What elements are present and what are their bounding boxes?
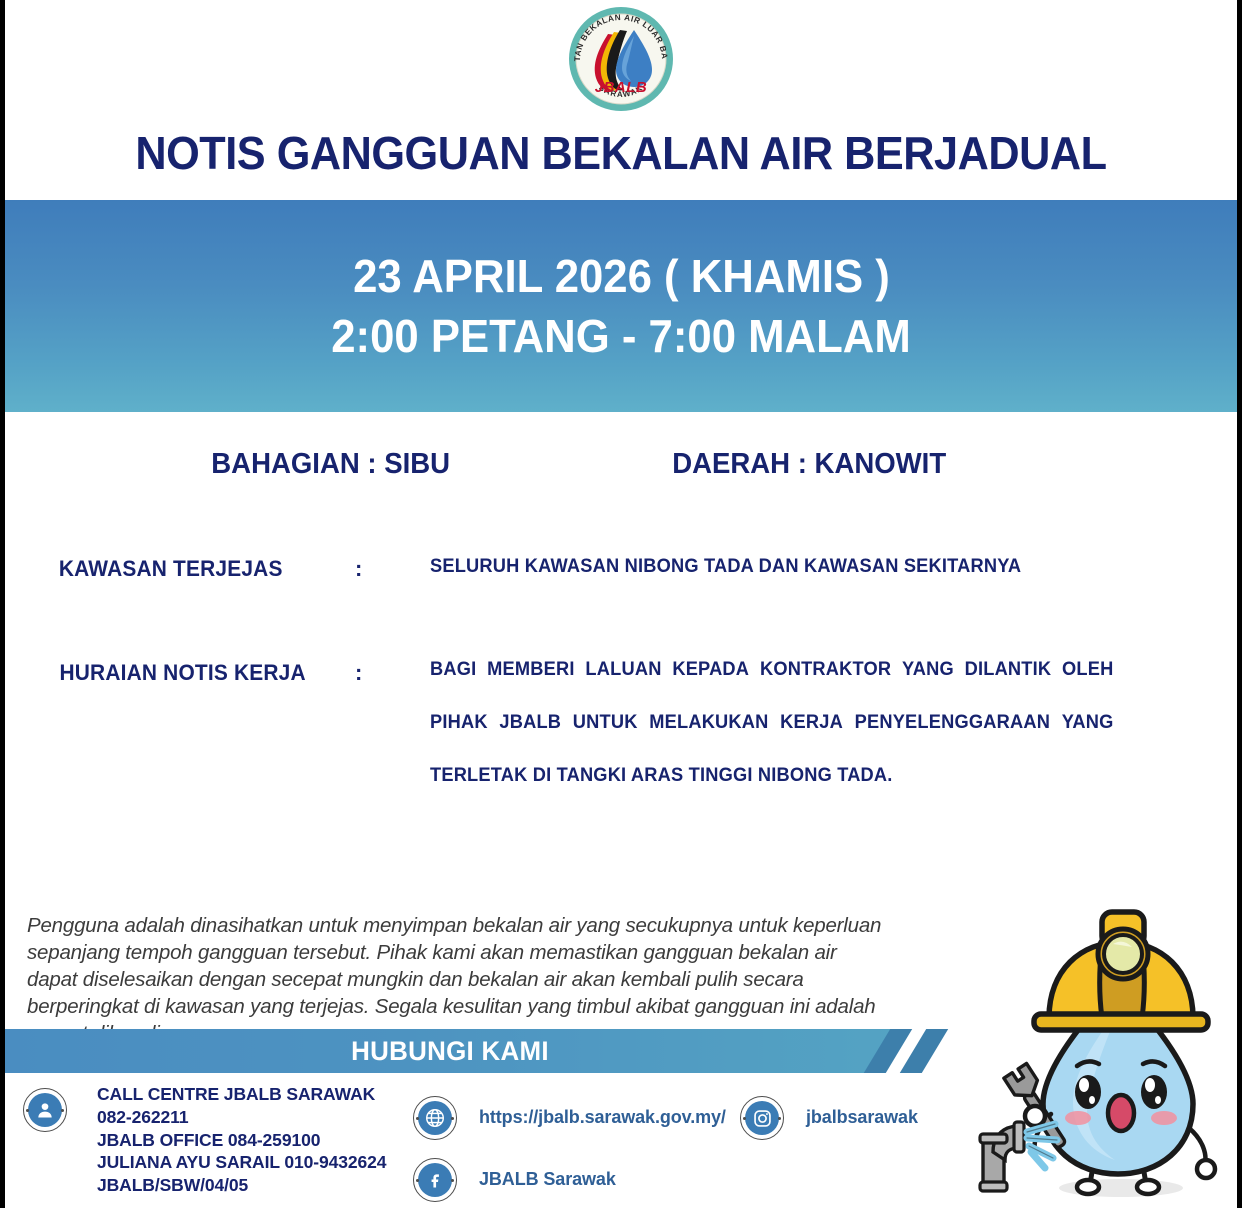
desc-word: LALUAN	[585, 660, 661, 679]
work-description-colon: :	[355, 660, 362, 686]
desc-word: MEMBERI	[487, 660, 574, 679]
contact-footer: CALL CENTRE JBALB SARAWAK 082-262211 JBA…	[5, 1078, 1005, 1208]
facebook-icon-inner	[418, 1163, 452, 1197]
page-title: NOTIS GANGGUAN BEKALAN AIR BERJADUAL	[42, 126, 1200, 180]
person-icon	[23, 1088, 67, 1132]
logo-container: JABATAN BEKALAN AIR LUAR BANDAR SARAWAK …	[5, 4, 1237, 114]
call-centre-text: CALL CENTRE JBALB SARAWAK 082-262211 JBA…	[97, 1083, 386, 1197]
work-description-value: BAGIMEMBERILALUANKEPADAKONTRAKTORYANGDIL…	[430, 660, 1114, 819]
affected-area-label: KAWASAN TERJEJAS	[59, 556, 283, 582]
contact-banner-title: HUBUNGI KAMI	[23, 1029, 877, 1073]
affected-area-colon: :	[355, 556, 362, 582]
facebook-icon[interactable]	[413, 1158, 457, 1202]
water-droplet-mascot	[971, 896, 1242, 1208]
desc-word: DILANTIK	[965, 660, 1052, 679]
desc-word: BAGI	[430, 660, 476, 679]
svg-text:JBALB: JBALB	[595, 79, 648, 96]
division-label: BAHAGIAN : SIBU	[211, 448, 450, 481]
instagram-label[interactable]: jbalbsarawak	[806, 1107, 918, 1128]
globe-icon[interactable]	[413, 1096, 457, 1140]
desc-word: OLEH	[1062, 660, 1113, 679]
call-line: JULIANA AYU SARAIL 010-9432624	[97, 1151, 386, 1174]
desc-word: KEPADA	[672, 660, 749, 679]
call-line: 082-262211	[97, 1106, 386, 1129]
desc-line-2: PIHAKJBALBUNTUKMELAKUKANKERJAPENYELENGGA…	[430, 713, 1114, 732]
desc-word: KERJA	[780, 713, 843, 732]
call-line: JBALB/SBW/04/05	[97, 1174, 386, 1197]
desc-word: YANG	[1062, 713, 1114, 732]
globe-icon-inner	[418, 1101, 452, 1135]
instagram-icon[interactable]	[740, 1096, 784, 1140]
desc-word: PENYELENGGARAAN	[855, 713, 1050, 732]
work-description-label: HURAIAN NOTIS KERJA	[59, 660, 305, 686]
district-label: DAERAH : KANOWIT	[672, 448, 946, 481]
advisory-paragraph: Pengguna adalah dinasihatkan untuk menyi…	[27, 912, 889, 1047]
date-time-banner: 23 APRIL 2026 ( KHAMIS ) 2:00 PETANG - 7…	[5, 200, 1237, 412]
affected-area-value: SELURUH KAWASAN NIBONG TADA DAN KAWASAN …	[430, 556, 1114, 578]
desc-word: YANG	[902, 660, 954, 679]
desc-word: JBALB	[499, 713, 561, 732]
facebook-label[interactable]: JBALB Sarawak	[479, 1169, 616, 1190]
contact-banner: HUBUNGI KAMI	[5, 1029, 953, 1073]
water-disruption-notice-poster: JABATAN BEKALAN AIR LUAR BANDAR SARAWAK …	[0, 0, 1242, 1208]
website-label[interactable]: https://jbalb.sarawak.gov.my/	[479, 1107, 726, 1128]
call-line: CALL CENTRE JBALB SARAWAK	[97, 1083, 386, 1106]
person-icon-inner	[28, 1093, 62, 1127]
desc-word: UNTUK	[573, 713, 638, 732]
desc-word: MELAKUKAN	[649, 713, 768, 732]
desc-line-3: TERLETAK DI TANGKI ARAS TINGGI NIBONG TA…	[430, 766, 1114, 785]
jbalb-logo: JABATAN BEKALAN AIR LUAR BANDAR SARAWAK …	[562, 4, 680, 114]
notice-date: 23 APRIL 2026 ( KHAMIS )	[353, 248, 890, 304]
call-line: JBALB OFFICE 084-259100	[97, 1129, 386, 1152]
desc-word: KONTRAKTOR	[760, 660, 891, 679]
desc-line-1: BAGIMEMBERILALUANKEPADAKONTRAKTORYANGDIL…	[430, 660, 1114, 679]
desc-word: PIHAK	[430, 713, 488, 732]
notice-time: 2:00 PETANG - 7:00 MALAM	[331, 308, 911, 364]
instagram-icon-inner	[745, 1101, 779, 1135]
